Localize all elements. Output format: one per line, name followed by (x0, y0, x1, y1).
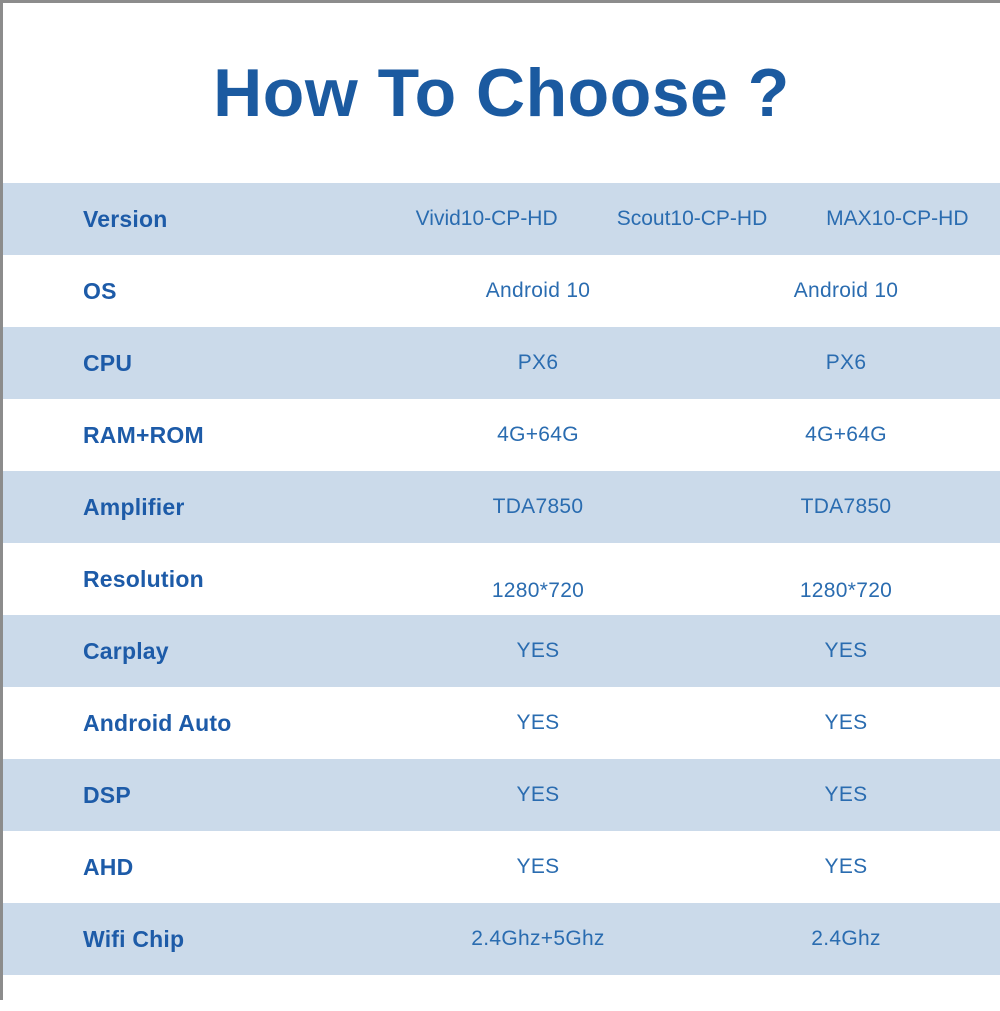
row-value-android-auto-col2: YES (692, 687, 1000, 759)
table-row: DSP YES YES (3, 759, 1000, 831)
row-label-os: OS (3, 255, 384, 327)
version-name-3: MAX10-CP-HD (795, 207, 1000, 231)
row-value-os-col1: Android 10 (384, 255, 692, 327)
row-label-ahd: AHD (3, 831, 384, 903)
row-label-carplay: Carplay (3, 615, 384, 687)
row-value-dsp-col2: YES (692, 759, 1000, 831)
row-label-version: Version (3, 183, 384, 255)
row-value-os-col2: Android 10 (692, 255, 1000, 327)
row-label-android-auto: Android Auto (3, 687, 384, 759)
page-title: How To Choose ? (213, 59, 790, 127)
row-value-dsp-col1: YES (384, 759, 692, 831)
row-value-cpu-col1: PX6 (384, 327, 692, 399)
title-area: How To Choose ? (3, 3, 1000, 183)
bottom-spacer (3, 975, 1000, 1011)
row-value-resolution-col2: 1280*720 (692, 555, 1000, 627)
table-row: CPU PX6 PX6 (3, 327, 1000, 399)
version-name-1: Vivid10-CP-HD (384, 207, 589, 231)
version-header-cells: Vivid10-CP-HD Scout10-CP-HD MAX10-CP-HD (384, 183, 1000, 255)
row-label-ram-rom: RAM+ROM (3, 399, 384, 471)
row-value-wifi-chip-col1: 2.4Ghz+5Ghz (384, 903, 692, 975)
row-value-amplifier-col1: TDA7850 (384, 471, 692, 543)
row-value-android-auto-col1: YES (384, 687, 692, 759)
table-row: Amplifier TDA7850 TDA7850 (3, 471, 1000, 543)
row-value-ahd-col1: YES (384, 831, 692, 903)
version-name-2: Scout10-CP-HD (589, 207, 794, 231)
row-label-cpu: CPU (3, 327, 384, 399)
table-row: Wifi Chip 2.4Ghz+5Ghz 2.4Ghz (3, 903, 1000, 975)
table-row: Resolution 1280*720 1280*720 (3, 543, 1000, 615)
table-row: RAM+ROM 4G+64G 4G+64G (3, 399, 1000, 471)
row-value-cpu-col2: PX6 (692, 327, 1000, 399)
row-value-amplifier-col2: TDA7850 (692, 471, 1000, 543)
table-row: Android Auto YES YES (3, 687, 1000, 759)
row-value-resolution-col1: 1280*720 (384, 555, 692, 627)
table-body: Version Vivid10-CP-HD Scout10-CP-HD MAX1… (3, 183, 1000, 975)
table-row-version: Version Vivid10-CP-HD Scout10-CP-HD MAX1… (3, 183, 1000, 255)
row-value-ahd-col2: YES (692, 831, 1000, 903)
version-strip: Vivid10-CP-HD Scout10-CP-HD MAX10-CP-HD (384, 207, 1000, 231)
specification-comparison-table: Version Vivid10-CP-HD Scout10-CP-HD MAX1… (3, 183, 1000, 975)
table-row: AHD YES YES (3, 831, 1000, 903)
row-value-ram-rom-col1: 4G+64G (384, 399, 692, 471)
row-label-wifi-chip: Wifi Chip (3, 903, 384, 975)
table-row: OS Android 10 Android 10 (3, 255, 1000, 327)
row-label-amplifier: Amplifier (3, 471, 384, 543)
row-value-ram-rom-col2: 4G+64G (692, 399, 1000, 471)
row-label-dsp: DSP (3, 759, 384, 831)
row-label-resolution: Resolution (3, 543, 384, 615)
row-value-wifi-chip-col2: 2.4Ghz (692, 903, 1000, 975)
